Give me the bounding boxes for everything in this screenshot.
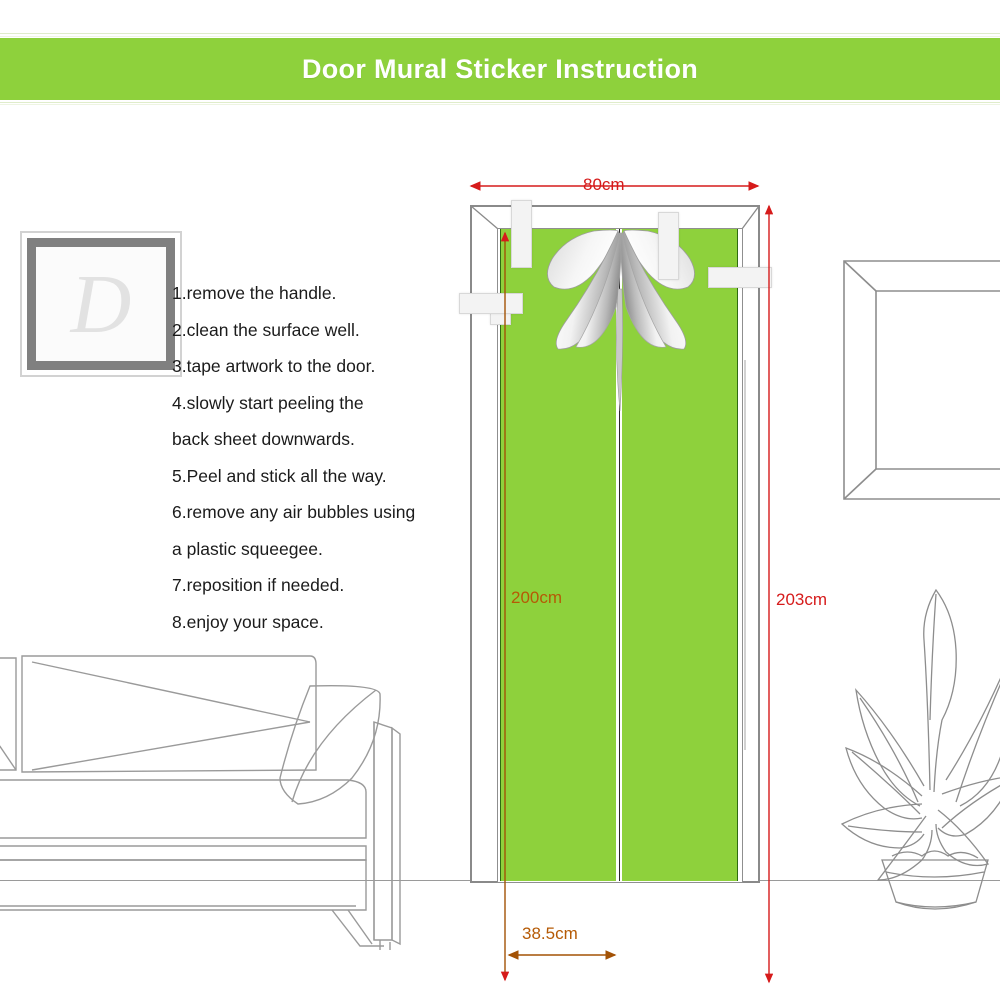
picture-frame-matte: D	[27, 238, 175, 370]
dimension-label-height-right: 203cm	[776, 590, 827, 610]
sofa-illustration	[0, 610, 420, 950]
picture-frame-letter: D	[36, 247, 166, 361]
dimension-label-height-left: 200cm	[511, 588, 562, 608]
wall-mirror-frame-icon	[838, 255, 1000, 505]
header-banner: Door Mural Sticker Instruction	[0, 38, 1000, 100]
instruction-line: 7.reposition if needed.	[172, 567, 462, 604]
instruction-line: 3.tape artwork to the door.	[172, 348, 462, 385]
instruction-line: 1.remove the handle.	[172, 275, 462, 312]
potted-plant-illustration	[838, 580, 1000, 910]
instruction-line: 2.clean the surface well.	[172, 312, 462, 349]
header: Door Mural Sticker Instruction	[0, 33, 1000, 105]
dimension-label-panel-width: 38.5cm	[522, 924, 578, 944]
instruction-line: 4.slowly start peeling the	[172, 385, 462, 422]
instruction-list: 1.remove the handle. 2.clean the surface…	[172, 275, 462, 640]
dimension-annotations	[455, 190, 775, 890]
header-divider-bottom	[0, 102, 1000, 103]
illustration-scene: D 1.remove the handle. 2.clean the surfa…	[0, 105, 1000, 1000]
header-divider-top	[0, 33, 1000, 34]
page-title: Door Mural Sticker Instruction	[302, 54, 698, 85]
instruction-line: 5.Peel and stick all the way.	[172, 458, 462, 495]
door-diagram: 80cm 200cm 203cm 38.5cm	[455, 190, 775, 890]
instruction-line: a plastic squeegee.	[172, 531, 462, 568]
dimension-label-width-top: 80cm	[583, 175, 625, 195]
wall-picture-frame: D	[20, 231, 182, 377]
instruction-line: back sheet downwards.	[172, 421, 462, 458]
instruction-line: 6.remove any air bubbles using	[172, 494, 462, 531]
header-divider-top-2	[0, 36, 1000, 37]
